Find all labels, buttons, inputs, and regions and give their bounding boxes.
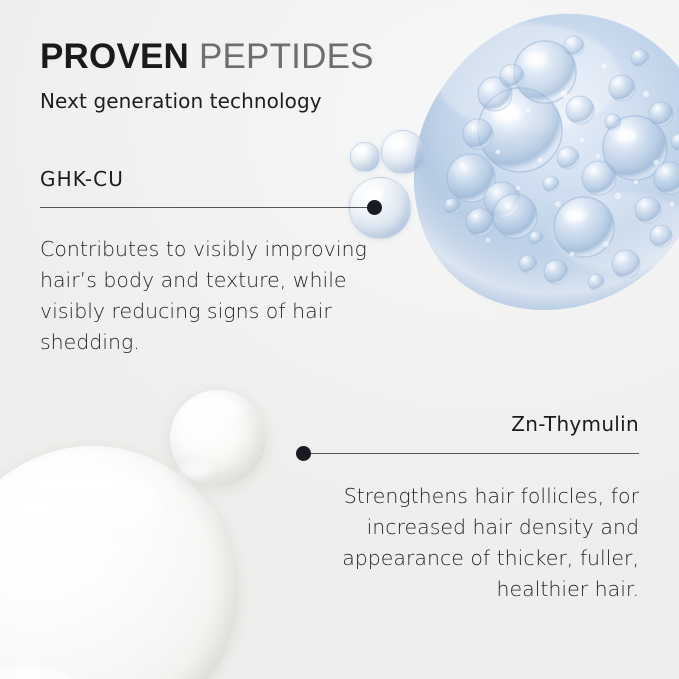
page-title-strong: PROVEN xyxy=(40,37,189,76)
page-subtitle: Next generation technology xyxy=(40,89,322,113)
leader-line-ghk-cu xyxy=(40,207,376,208)
text-content-layer: PROVEN PEPTIDES Next generation technolo… xyxy=(0,0,679,679)
leader-line-zn-thymulin xyxy=(303,453,639,454)
page-title-light: PEPTIDES xyxy=(199,37,374,76)
product-feature-panel: PROVEN PEPTIDES Next generation technolo… xyxy=(0,0,679,679)
ingredient-label-ghk-cu: GHK-CU xyxy=(40,167,124,191)
ingredient-label-zn-thymulin: Zn-Thymulin xyxy=(511,412,639,436)
leader-dot-zn-thymulin xyxy=(296,446,311,461)
ingredient-description-zn-thymulin: Strengthens hair follicles, for increase… xyxy=(273,481,639,606)
page-title: PROVEN PEPTIDES xyxy=(40,38,374,77)
leader-dot-ghk-cu xyxy=(367,200,382,215)
ingredient-description-ghk-cu: Contributes to visibly improving hair’s … xyxy=(40,234,410,359)
